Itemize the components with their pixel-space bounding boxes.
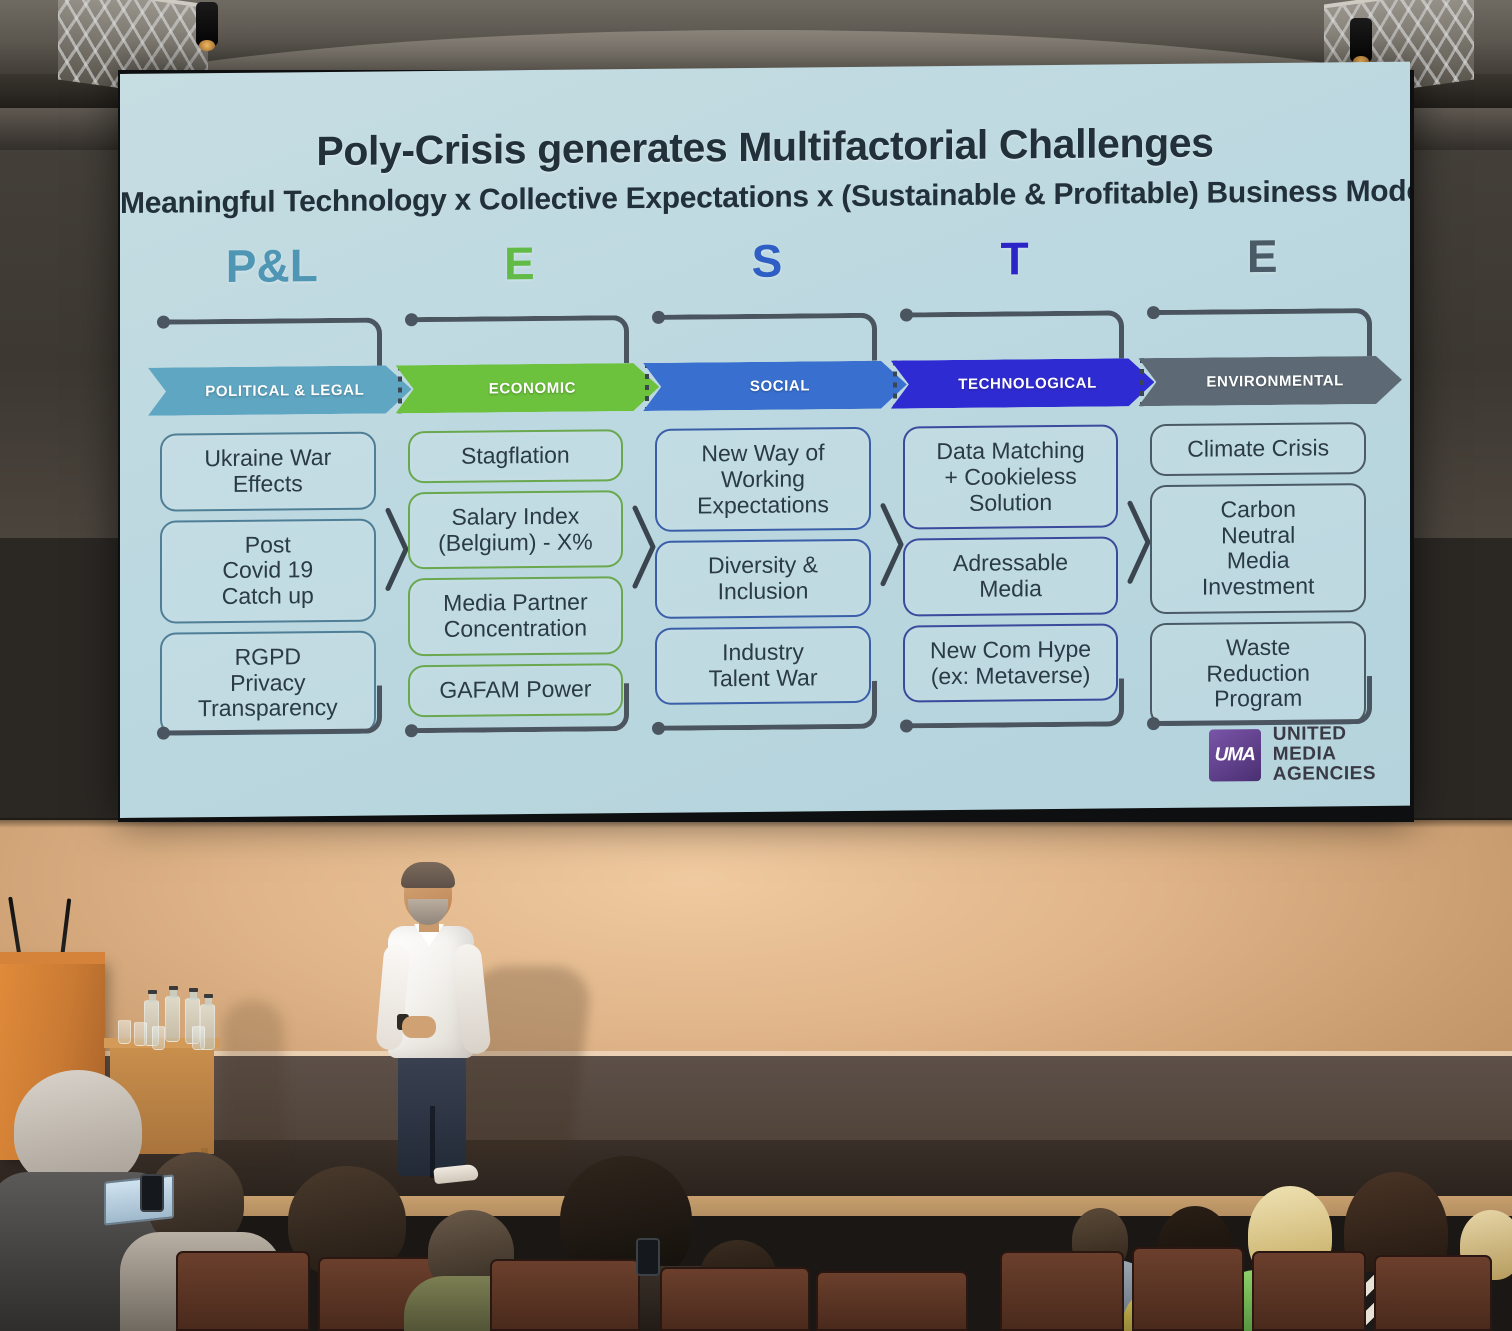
column-political-legal: P&L POLITICAL & LEGAL Ukraine War Effect… xyxy=(148,241,396,743)
card-item[interactable]: Data Matching + Cookieless Solution xyxy=(903,424,1119,529)
column-cards: Climate Crisis Carbon Neutral Media Inve… xyxy=(1150,416,1366,672)
seat[interactable] xyxy=(176,1251,310,1331)
column-letter: T xyxy=(891,234,1139,282)
card-item[interactable]: Ukraine War Effects xyxy=(160,432,376,512)
column-band-label: ENVIRONMENTAL xyxy=(1196,372,1344,390)
card-text: Salary Index (Belgium) - X% xyxy=(438,503,593,556)
card-item[interactable]: Carbon Neutral Media Investment xyxy=(1150,483,1366,614)
card-text: Data Matching + Cookieless Solution xyxy=(936,438,1084,517)
bracket-bottom xyxy=(661,681,877,731)
presentation-slide: Poly-Crisis generates Multifactorial Cha… xyxy=(120,62,1410,818)
column-band: ENVIRONMENTAL xyxy=(1138,356,1402,407)
column-economic: E ECONOMIC Stagflation xyxy=(396,239,644,741)
column-cards: New Way of Working Expectations Diversit… xyxy=(655,421,871,677)
column-band-label: ECONOMIC xyxy=(479,379,576,397)
column-band-label: POLITICAL & LEGAL xyxy=(195,381,364,400)
seat[interactable] xyxy=(1252,1251,1366,1331)
slide-title: Poly-Crisis generates Multifactorial Cha… xyxy=(120,118,1410,177)
card-text: Adressable Media xyxy=(953,550,1068,603)
drinking-glass xyxy=(118,1020,131,1044)
bracket-bottom xyxy=(909,678,1125,728)
bracket-top xyxy=(166,317,382,367)
seat[interactable] xyxy=(490,1259,640,1331)
card-text: Carbon Neutral Media Investment xyxy=(1202,496,1315,600)
column-letter: S xyxy=(643,237,891,285)
column-band: ECONOMIC xyxy=(396,363,660,414)
slide-subtitle: Meaningful Technology x Collective Expec… xyxy=(120,175,1410,221)
drinking-glass xyxy=(152,1026,165,1050)
card-item[interactable]: Media Partner Concentration xyxy=(408,576,624,656)
logo-line-2: MEDIA xyxy=(1273,744,1376,765)
drinking-glass xyxy=(134,1022,147,1046)
bracket-bottom xyxy=(414,683,630,733)
phone[interactable] xyxy=(140,1174,164,1212)
column-band-label: TECHNOLOGICAL xyxy=(948,374,1097,392)
column-cards: Ukraine War Effects Post Covid 19 Catch … xyxy=(160,426,376,682)
presenter-beard xyxy=(408,899,448,925)
seat[interactable] xyxy=(816,1271,968,1331)
seat[interactable] xyxy=(1000,1251,1124,1331)
uma-logo: UMA UNITED MEDIA AGENCIES xyxy=(1209,724,1376,786)
presenter-hands xyxy=(402,1016,436,1038)
logo-line-3: AGENCIES xyxy=(1273,764,1376,785)
bracket-bottom xyxy=(1156,676,1372,726)
projection-screen: Poly-Crisis generates Multifactorial Cha… xyxy=(118,70,1414,822)
bracket-top xyxy=(1156,308,1372,358)
audience xyxy=(0,1060,1512,1331)
card-text: Stagflation xyxy=(461,443,570,470)
bracket-top xyxy=(414,315,630,365)
column-letter: P&L xyxy=(148,241,396,289)
phone[interactable] xyxy=(636,1238,660,1276)
column-cards: Stagflation Salary Index (Belgium) - X% … xyxy=(408,423,624,679)
spotlight-icon xyxy=(1350,18,1372,62)
column-band: POLITICAL & LEGAL xyxy=(148,365,412,416)
card-item[interactable]: New Way of Working Expectations xyxy=(655,427,871,532)
card-text: Diversity & Inclusion xyxy=(708,553,818,606)
bracket-bottom xyxy=(166,685,382,735)
drinking-glass xyxy=(192,1026,205,1050)
seat[interactable] xyxy=(1132,1247,1244,1331)
card-text: New Way of Working Expectations xyxy=(697,440,829,519)
card-item[interactable]: Stagflation xyxy=(408,429,624,483)
pestel-columns: P&L POLITICAL & LEGAL Ukraine War Effect… xyxy=(148,232,1386,744)
card-text: Media Partner Concentration xyxy=(443,590,587,643)
column-cards: Data Matching + Cookieless Solution Adre… xyxy=(903,418,1119,674)
conference-room-scene: Poly-Crisis generates Multifactorial Cha… xyxy=(0,0,1512,1331)
column-letter: E xyxy=(396,239,644,287)
bracket-top xyxy=(661,313,877,363)
column-letter: E xyxy=(1138,232,1386,280)
seat[interactable] xyxy=(1374,1255,1492,1331)
water-bottle xyxy=(165,996,180,1042)
column-social: S SOCIAL New Way of Working Expectations xyxy=(643,237,891,739)
bracket-top xyxy=(909,310,1125,360)
card-text: Post Covid 19 Catch up xyxy=(222,532,314,610)
card-item[interactable]: Post Covid 19 Catch up xyxy=(160,518,376,623)
card-item[interactable]: Adressable Media xyxy=(903,537,1119,617)
logo-line-1: UNITED xyxy=(1273,724,1376,745)
column-technological: T TECHNOLOGICAL Data Matching + Cookiele… xyxy=(891,234,1139,736)
card-item[interactable]: Diversity & Inclusion xyxy=(655,539,871,619)
column-band: SOCIAL xyxy=(643,360,907,411)
presenter-hair xyxy=(401,862,455,888)
spotlight-icon xyxy=(196,2,218,46)
audience-head xyxy=(14,1070,142,1188)
column-band: TECHNOLOGICAL xyxy=(891,358,1155,409)
column-band-label: SOCIAL xyxy=(740,377,810,395)
seat[interactable] xyxy=(660,1267,810,1331)
card-text: Ukraine War Effects xyxy=(204,445,331,498)
card-item[interactable]: Climate Crisis xyxy=(1150,422,1366,476)
card-item[interactable]: Salary Index (Belgium) - X% xyxy=(408,490,624,570)
card-text: Climate Crisis xyxy=(1187,435,1329,462)
column-environmental: E ENVIRONMENTAL Climate Crisis Carbon Ne… xyxy=(1138,232,1386,734)
uma-logo-mark: UMA xyxy=(1209,729,1261,781)
uma-logo-text: UNITED MEDIA AGENCIES xyxy=(1273,724,1376,785)
